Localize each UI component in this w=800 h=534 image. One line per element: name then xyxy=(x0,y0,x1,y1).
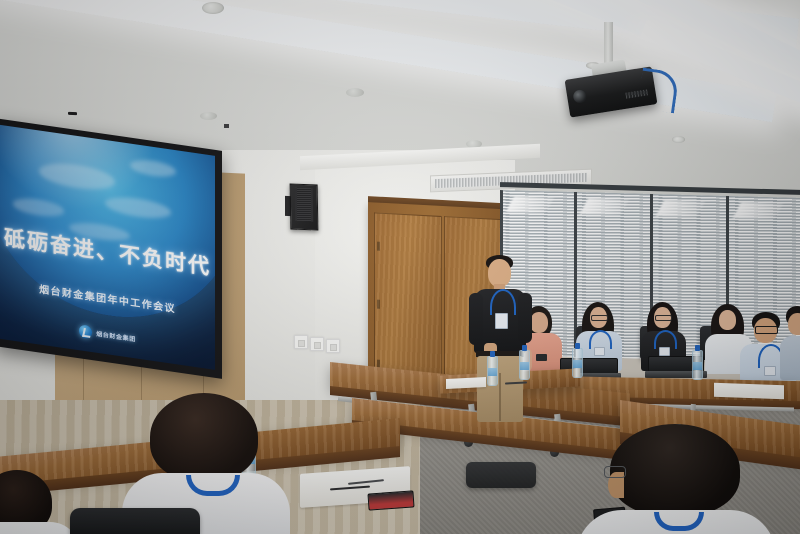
phone-in-hand xyxy=(536,354,547,361)
water-bottle-4[interactable] xyxy=(487,356,498,386)
head xyxy=(530,312,548,333)
water-bottle-2[interactable] xyxy=(572,348,583,378)
water-bottle-1[interactable] xyxy=(519,350,530,380)
ceiling-downlight-3 xyxy=(672,136,685,143)
wall-speaker xyxy=(290,183,319,230)
projected-slide: 砥砺奋进、不负时代 烟台财金集团年中工作会议 烟台财金集团 xyxy=(0,125,215,370)
paper-stack-right[interactable] xyxy=(714,383,784,399)
wall-switch-plate-1[interactable] xyxy=(294,335,308,349)
chair-mid-right[interactable] xyxy=(466,462,536,488)
hair xyxy=(150,393,258,481)
badge xyxy=(659,347,670,356)
badge xyxy=(594,347,605,356)
paper-stack-far-right[interactable] xyxy=(446,377,486,389)
smartphone-red-case[interactable] xyxy=(367,490,414,510)
torso xyxy=(780,336,800,380)
presenter-arm-right xyxy=(518,293,532,343)
water-bottle-3[interactable] xyxy=(692,350,703,380)
glasses-icon xyxy=(591,315,608,321)
wall-switch-plate-3[interactable] xyxy=(326,339,340,353)
door-handle-icon[interactable] xyxy=(68,112,77,115)
glasses-icon xyxy=(604,466,626,478)
chair-foreground-left[interactable] xyxy=(70,508,200,534)
presenter-pants-seam xyxy=(499,373,501,421)
presenter-head xyxy=(488,259,511,287)
ceiling-downlight-1 xyxy=(202,2,224,14)
presenter-badge xyxy=(495,313,508,329)
projection-screen: 砥砺奋进、不负时代 烟台财金集团年中工作会议 烟台财金集团 xyxy=(0,118,222,379)
ceiling-speaker-2 xyxy=(200,112,217,120)
head xyxy=(788,313,800,335)
circular-globe-logo-icon xyxy=(79,324,92,339)
glasses-icon xyxy=(655,315,672,321)
projector-lens-icon xyxy=(572,89,587,104)
hair xyxy=(610,424,740,516)
glasses-icon xyxy=(755,326,778,334)
ceiling-sensor xyxy=(224,124,229,128)
badge xyxy=(764,366,776,376)
presenter-arm-left xyxy=(469,293,483,345)
conference-room-photo: 砥砺奋进、不负时代 烟台财金集团年中工作会议 烟台财金集团 xyxy=(0,0,800,534)
wall-switch-plate-2[interactable] xyxy=(310,337,324,351)
head xyxy=(719,310,736,330)
ceiling-speaker-1 xyxy=(346,88,364,97)
